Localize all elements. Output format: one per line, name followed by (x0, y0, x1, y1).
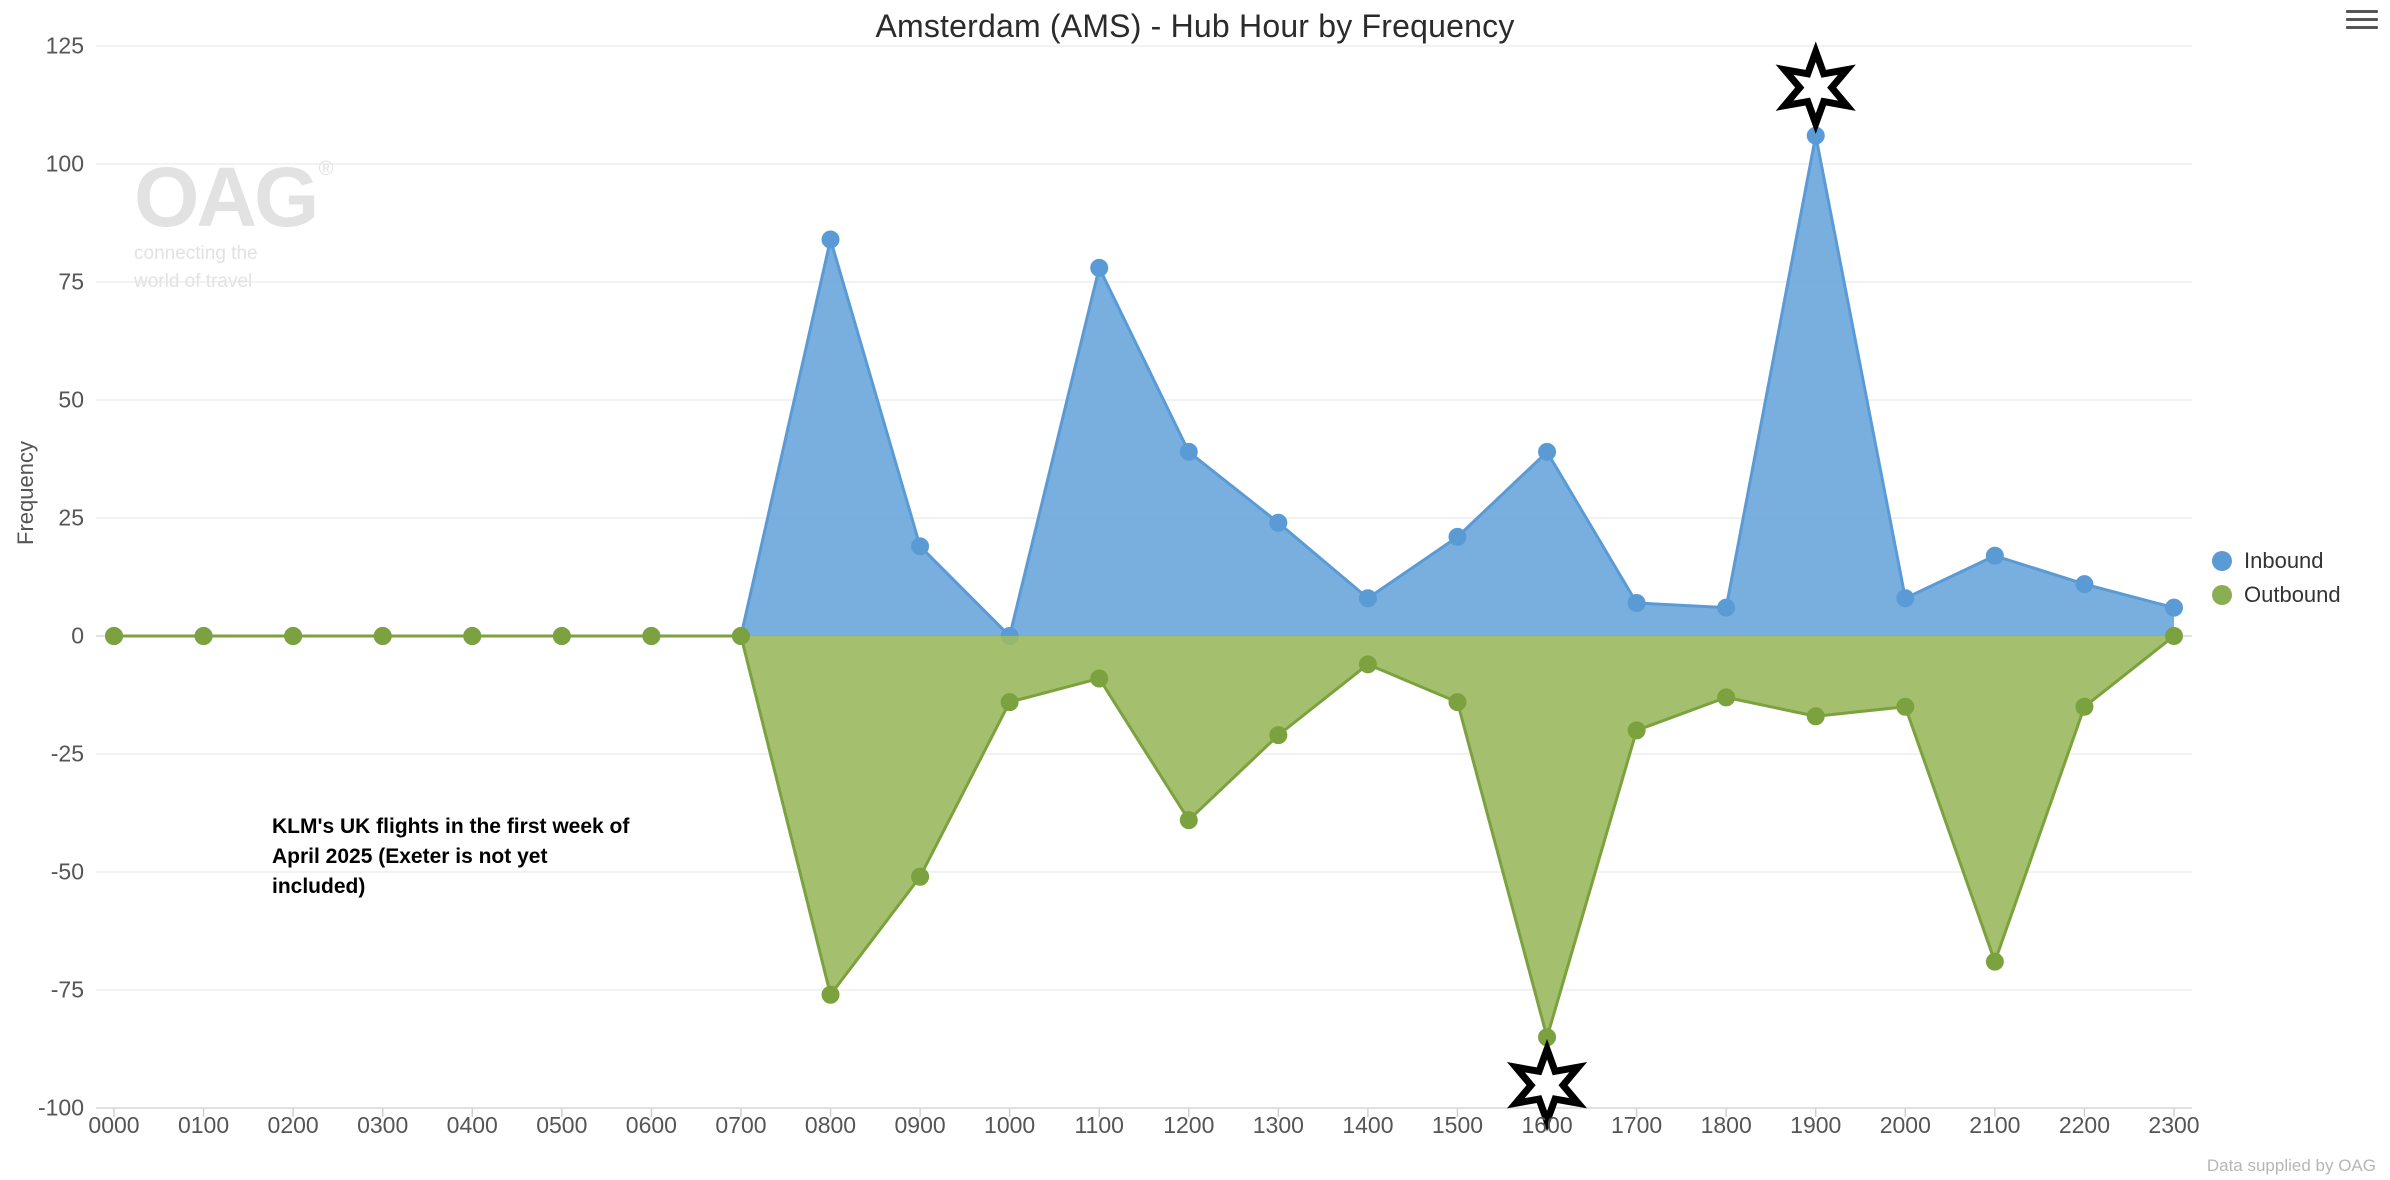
data-point-outbound-1700[interactable] (1628, 722, 1645, 739)
y-tick-label--100: -100 (38, 1095, 84, 1122)
data-point-outbound-0800[interactable] (822, 986, 839, 1003)
legend-swatch-outbound-icon (2212, 585, 2232, 605)
data-point-inbound-1300[interactable] (1270, 514, 1287, 531)
star-marker-inbound-peak (1785, 52, 1847, 124)
x-tick-label-1100: 1100 (1074, 1112, 1123, 1139)
x-tick-label-2200: 2200 (2059, 1112, 2110, 1139)
data-point-outbound-1000[interactable] (1001, 694, 1018, 711)
data-point-outbound-1500[interactable] (1449, 694, 1466, 711)
data-point-outbound-1800[interactable] (1718, 689, 1735, 706)
x-tick-label-0100: 0100 (178, 1112, 229, 1139)
legend-item-inbound[interactable]: Inbound (2212, 548, 2341, 574)
y-tick-label-0: 0 (71, 623, 84, 650)
data-point-inbound-2000[interactable] (1897, 590, 1914, 607)
chart-page: Amsterdam (AMS) - Hub Hour by Frequency … (0, 0, 2390, 1180)
data-point-inbound-0800[interactable] (822, 231, 839, 248)
legend-swatch-inbound-icon (2212, 551, 2232, 571)
x-tick-label-0300: 0300 (357, 1112, 408, 1139)
series-inbound (106, 127, 2183, 644)
y-tick-label-50: 50 (58, 387, 84, 414)
data-point-outbound-0400[interactable] (464, 628, 481, 645)
legend-label-outbound: Outbound (2244, 582, 2341, 608)
x-tick-label-1200: 1200 (1163, 1112, 1214, 1139)
data-point-outbound-0900[interactable] (912, 868, 929, 885)
x-tick-label-0000: 0000 (88, 1112, 139, 1139)
y-tick-label-75: 75 (58, 269, 84, 296)
data-point-outbound-0000[interactable] (106, 628, 123, 645)
chart-svg (96, 46, 2192, 1108)
data-point-inbound-1800[interactable] (1718, 599, 1735, 616)
data-point-outbound-0600[interactable] (643, 628, 660, 645)
data-point-outbound-0300[interactable] (374, 628, 391, 645)
data-point-inbound-0900[interactable] (912, 538, 929, 555)
data-point-inbound-1200[interactable] (1180, 443, 1197, 460)
data-point-inbound-2300[interactable] (2166, 599, 2183, 616)
data-point-inbound-1600[interactable] (1539, 443, 1556, 460)
y-tick-label--25: -25 (51, 741, 84, 768)
x-tick-label-1800: 1800 (1701, 1112, 1752, 1139)
x-axis-ticks: 0000010002000300040005000600070008000900… (96, 1112, 2192, 1152)
data-point-inbound-1100[interactable] (1091, 259, 1108, 276)
y-tick-label-100: 100 (46, 151, 84, 178)
data-point-outbound-2300[interactable] (2166, 628, 2183, 645)
data-point-outbound-0200[interactable] (285, 628, 302, 645)
data-point-outbound-1900[interactable] (1807, 708, 1824, 725)
x-tick-label-1700: 1700 (1611, 1112, 1662, 1139)
legend-item-outbound[interactable]: Outbound (2212, 582, 2341, 608)
x-tick-label-0500: 0500 (536, 1112, 587, 1139)
x-tick-label-1000: 1000 (984, 1112, 1035, 1139)
data-point-inbound-1400[interactable] (1359, 590, 1376, 607)
data-point-inbound-1700[interactable] (1628, 594, 1645, 611)
data-point-outbound-1300[interactable] (1270, 727, 1287, 744)
data-point-inbound-1500[interactable] (1449, 528, 1466, 545)
footer-credit: Data supplied by OAG (2207, 1156, 2376, 1176)
data-point-outbound-0500[interactable] (553, 628, 570, 645)
x-tick-label-1900: 1900 (1790, 1112, 1841, 1139)
y-tick-label--75: -75 (51, 977, 84, 1004)
x-tick-label-1500: 1500 (1432, 1112, 1483, 1139)
x-tick-label-0800: 0800 (805, 1112, 856, 1139)
chart-title: Amsterdam (AMS) - Hub Hour by Frequency (0, 8, 2390, 45)
data-point-outbound-0100[interactable] (195, 628, 212, 645)
chart-annotation-note: KLM's UK flights in the first week of Ap… (272, 812, 632, 901)
y-tick-label--50: -50 (51, 859, 84, 886)
legend-label-inbound: Inbound (2244, 548, 2324, 574)
y-tick-label-125: 125 (46, 33, 84, 60)
chart-legend: InboundOutbound (2212, 548, 2341, 608)
data-point-outbound-2200[interactable] (2076, 698, 2093, 715)
x-tick-label-2300: 2300 (2148, 1112, 2199, 1139)
y-tick-label-25: 25 (58, 505, 84, 532)
plot-area (96, 46, 2192, 1108)
x-tick-label-0900: 0900 (894, 1112, 945, 1139)
x-tick-label-0400: 0400 (447, 1112, 498, 1139)
data-point-outbound-2100[interactable] (1986, 953, 2003, 970)
y-axis-ticks: 1251007550250-25-50-75-100 (0, 0, 96, 1180)
star-marker-outbound-peak (1516, 1049, 1578, 1121)
x-tick-label-1600: 1600 (1521, 1112, 1572, 1139)
data-point-inbound-2200[interactable] (2076, 576, 2093, 593)
x-tick-label-0600: 0600 (626, 1112, 677, 1139)
data-point-outbound-0700[interactable] (732, 628, 749, 645)
x-tick-label-0700: 0700 (715, 1112, 766, 1139)
data-point-outbound-1400[interactable] (1359, 656, 1376, 673)
x-tick-label-1300: 1300 (1253, 1112, 1304, 1139)
x-tick-label-1400: 1400 (1342, 1112, 1393, 1139)
data-point-outbound-2000[interactable] (1897, 698, 1914, 715)
x-tick-label-2100: 2100 (1969, 1112, 2020, 1139)
data-point-inbound-2100[interactable] (1986, 547, 2003, 564)
data-point-outbound-1200[interactable] (1180, 812, 1197, 829)
data-point-outbound-1100[interactable] (1091, 670, 1108, 687)
x-tick-label-0200: 0200 (268, 1112, 319, 1139)
x-tick-label-2000: 2000 (1880, 1112, 1931, 1139)
